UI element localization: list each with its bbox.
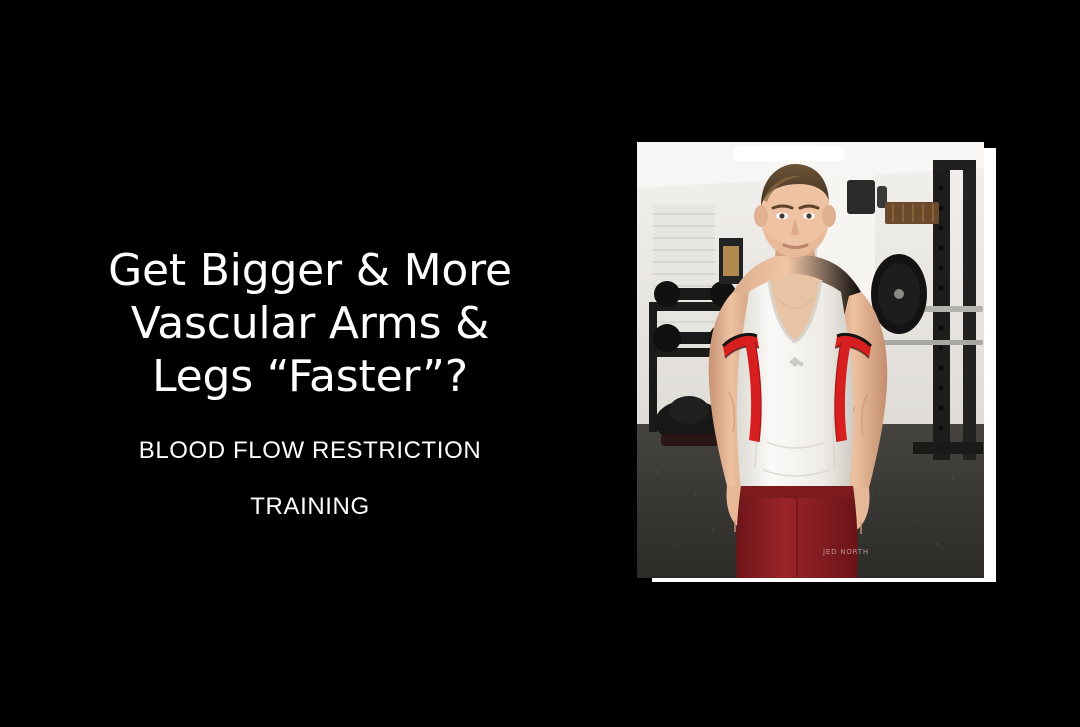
page-title: Get Bigger & More Vascular Arms & Legs “… [0, 244, 620, 403]
headline-line-2: Vascular Arms & [20, 297, 600, 350]
shorts-brand-text: JED NORTH [822, 548, 869, 556]
headline-line-3: Legs “Faster”? [20, 350, 600, 403]
hero-photo: JED NORTH [637, 142, 984, 578]
headline-line-1: Get Bigger & More [20, 244, 600, 297]
gym-photo-illustration: JED NORTH [637, 142, 984, 578]
subtitle-line-1: BLOOD FLOW RESTRICTION [0, 439, 620, 463]
banner-root: Get Bigger & More Vascular Arms & Legs “… [0, 0, 1080, 727]
text-block: Get Bigger & More Vascular Arms & Legs “… [0, 244, 620, 519]
subtitle-line-2: TRAINING [0, 495, 620, 519]
